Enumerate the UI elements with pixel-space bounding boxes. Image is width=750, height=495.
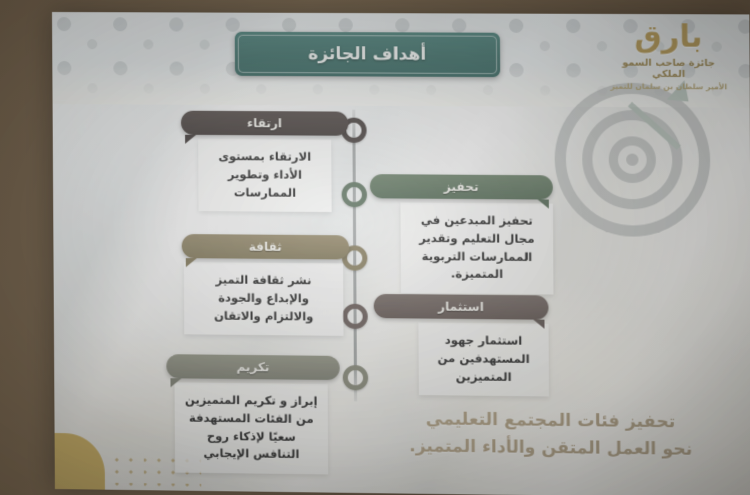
card-tail: [186, 258, 197, 267]
objective-card-takrim[interactable]: تكريم إبراز و تكريم المتميزين من الفئات …: [166, 354, 340, 475]
objective-card-tahfiz[interactable]: تحفيز تحفيز المبدعين في مجال التعليم وتق…: [370, 174, 554, 295]
gold-corner-shape: [52, 433, 105, 495]
slide-title-banner: أهداف الجائزة: [235, 32, 500, 77]
card-header-label: استثمار: [438, 300, 484, 315]
card-header-tahfiz: تحفيز: [370, 174, 553, 199]
tagline-line-1: تحفيز فئات المجتمع التعليمي: [382, 406, 719, 438]
page-title: أهداف الجائزة: [308, 44, 426, 65]
card-header-takrim: تكريم: [166, 354, 339, 380]
card-tail: [538, 199, 549, 208]
card-header-label: تحفيز: [444, 180, 479, 194]
card-tail: [185, 135, 196, 144]
logo-mark-icon: بارق: [604, 22, 733, 53]
logo-title-line-2: الأمير سلطان بن سلمان للتميز: [604, 82, 733, 92]
logo-title-line-1: جائزة صاحب السمو الملكي: [604, 57, 733, 80]
objective-card-irtiqa[interactable]: ارتقاء الارتقاء بمستوى الأداء وتطوير الم…: [181, 111, 349, 213]
card-body-tahfiz: تحفيز المبدعين في مجال التعليم وتقدير ال…: [400, 203, 553, 295]
card-body-takrim: إبراز و تكريم المتميزين من الفئات المسته…: [175, 382, 329, 474]
slide-canvas: أهداف الجائزة بارق جائزة صاحب السمو المل…: [52, 12, 750, 495]
card-body-thaqafa: نشر ثقافة التميز والإبداع والجودة والالت…: [184, 262, 344, 336]
tagline-line-2: نحو العمل المتقن والأداء المتميز.: [383, 433, 720, 465]
card-header-thaqafa: ثقافة: [182, 234, 350, 259]
objective-card-istithmar[interactable]: استثمار استثمار جهود المستهدفين من المتم…: [374, 294, 549, 397]
card-header-label: تكريم: [236, 360, 269, 374]
card-header-label: ارتقاء: [247, 116, 282, 130]
presentation-room: أهداف الجائزة بارق جائزة صاحب السمو المل…: [0, 0, 750, 495]
card-header-irtiqa: ارتقاء: [181, 111, 349, 136]
card-tail: [533, 320, 544, 329]
timeline-node-5: [343, 365, 368, 390]
objective-card-thaqafa[interactable]: ثقافة نشر ثقافة التميز والإبداع والجودة …: [182, 234, 350, 336]
card-tail: [170, 378, 181, 387]
slide-tagline: تحفيز فئات المجتمع التعليمي نحو العمل ال…: [382, 406, 719, 466]
card-header-istithmar: استثمار: [374, 294, 549, 320]
card-body-istithmar: استثمار جهود المستهدفين من المتميزين: [418, 323, 549, 397]
award-logo: بارق جائزة صاحب السمو الملكي الأمير سلطا…: [604, 22, 734, 108]
card-body-irtiqa: الارتقاء بمستوى الأداء وتطوير الممارسات: [198, 139, 332, 213]
card-header-label: ثقافة: [249, 240, 282, 254]
projection-screen: أهداف الجائزة بارق جائزة صاحب السمو المل…: [52, 12, 750, 495]
